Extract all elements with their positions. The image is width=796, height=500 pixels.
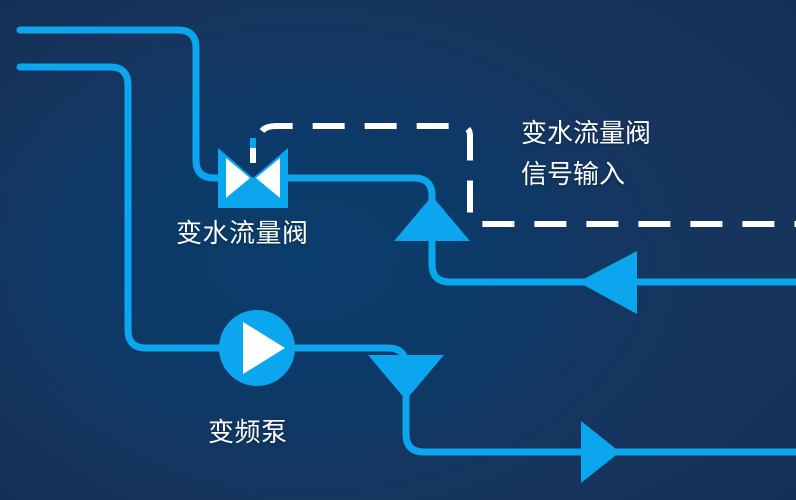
water-system-schematic (0, 0, 796, 500)
diagram-canvas: 变水流量阀 变频泵 变水流量阀 信号输入 (0, 0, 796, 500)
butterfly-valve-icon[interactable] (218, 138, 288, 208)
valve-label: 变水流量阀 (176, 216, 309, 250)
flow-arrow-up-icon (394, 196, 470, 241)
flow-arrow-left-icon (578, 251, 637, 314)
variable-frequency-pump-icon[interactable] (219, 310, 295, 386)
flow-arrow-right-icon (581, 421, 620, 483)
flow-arrow-down-icon (368, 355, 444, 400)
signal-input-label-line1: 变水流量阀 (521, 113, 651, 154)
pipe-supply-top (20, 30, 218, 178)
pipe-supply-lower (20, 67, 219, 348)
signal-input-label-line2: 信号输入 (521, 154, 651, 195)
valve-stem-riser (250, 138, 256, 148)
pump-label: 变频泵 (208, 415, 288, 449)
signal-input-label: 变水流量阀 信号输入 (521, 113, 651, 195)
